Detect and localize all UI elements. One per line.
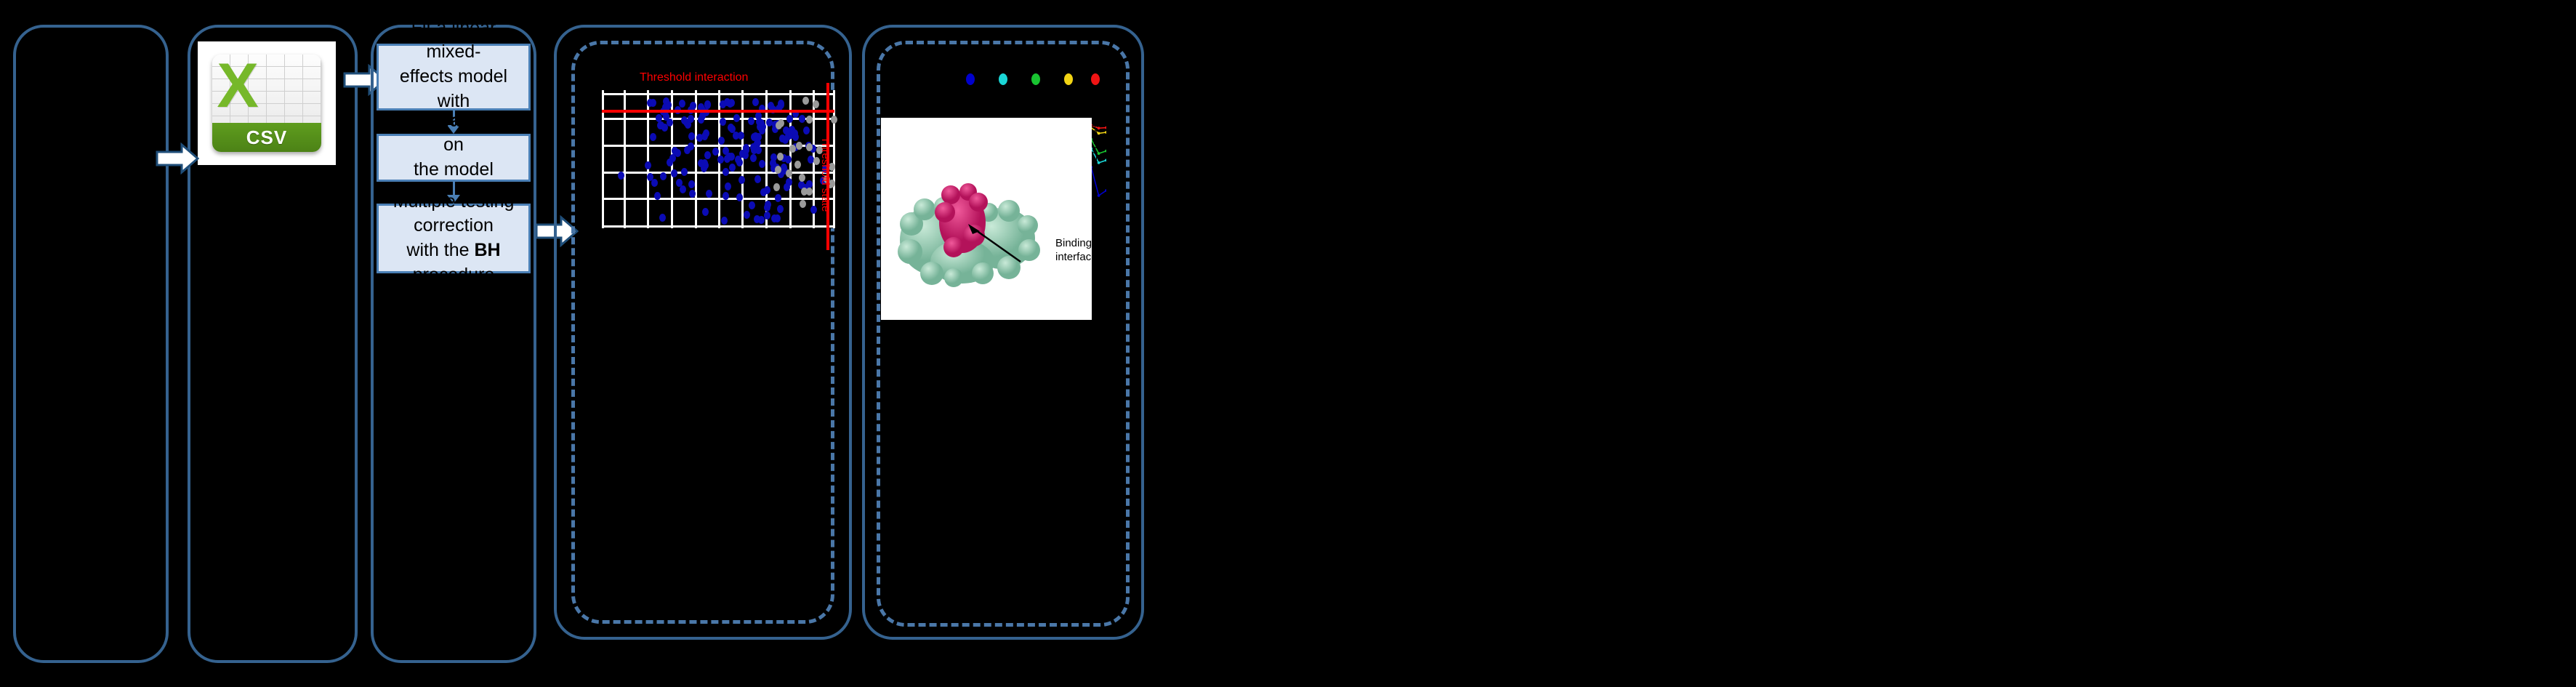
- scatter-point-significant: [689, 190, 696, 198]
- wald-keyword: Wald tests: [434, 111, 524, 131]
- scatter-point-nonsignificant: [799, 174, 805, 182]
- method-box-bh: Multiple testing correction with the BH …: [377, 204, 531, 273]
- method-box-wald: Apply Wald tests on the model parameters: [377, 134, 531, 182]
- csv-file-icon: X CSV: [198, 41, 336, 165]
- threshold-scatter-plot: [602, 90, 834, 228]
- scatter-point-significant: [658, 121, 664, 129]
- scatter-point-significant: [688, 180, 695, 188]
- peptide-series-marker: [1098, 194, 1100, 197]
- bh-keyword: BH: [475, 240, 501, 260]
- legend-dot: [1064, 73, 1073, 85]
- scatter-point-significant: [752, 98, 759, 106]
- csv-format-band: CSV: [212, 123, 321, 152]
- scatter-point-significant: [765, 201, 771, 209]
- binding-line-2: interface: [1055, 251, 1098, 265]
- flow-arrow-1: [156, 142, 199, 174]
- scatter-point-significant: [659, 214, 666, 222]
- scatter-point-nonsignificant: [773, 183, 780, 191]
- threshold-state-label: Threshold state: [819, 137, 832, 212]
- scatter-point-significant: [718, 137, 725, 145]
- grid-line-horizontal: [602, 172, 834, 174]
- wald-pre: Apply: [383, 111, 433, 131]
- grid-line-horizontal: [602, 198, 834, 200]
- bh-line-2: correction: [414, 215, 494, 236]
- scatter-point-significant: [680, 185, 686, 193]
- scatter-point-significant: [792, 133, 799, 141]
- scatter-point-significant: [720, 118, 726, 126]
- scatter-point-nonsignificant: [775, 166, 781, 174]
- scatter-point-significant: [702, 208, 709, 216]
- scatter-point-significant: [803, 126, 810, 134]
- scatter-point-significant: [775, 194, 781, 202]
- scatter-point-significant: [696, 134, 703, 142]
- binding-interface-annotation: Binding interface: [1055, 237, 1098, 265]
- scatter-point-nonsignificant: [776, 121, 782, 129]
- bh-line-3-pre: with the: [406, 240, 474, 260]
- threshold-interaction-line: [602, 110, 834, 113]
- scatter-point-significant: [759, 160, 765, 168]
- scatter-point-significant: [748, 117, 754, 125]
- scatter-point-significant: [684, 146, 691, 154]
- excel-x-icon: X: [217, 60, 259, 113]
- scatter-point-significant: [671, 169, 677, 177]
- scatter-point-nonsignificant: [806, 116, 813, 124]
- scatter-point-significant: [650, 133, 656, 141]
- scatter-point-significant: [733, 114, 740, 122]
- scatter-point-significant: [650, 99, 656, 107]
- scatter-point-significant: [784, 183, 790, 191]
- scatter-point-significant: [688, 115, 694, 123]
- legend-dot: [999, 73, 1007, 85]
- scatter-point-significant: [729, 164, 736, 172]
- scatter-point-significant: [704, 151, 711, 159]
- scatter-point-significant: [744, 211, 750, 219]
- scatter-point-significant: [721, 217, 728, 225]
- scatter-point-significant: [688, 132, 695, 140]
- scatter-point-nonsignificant: [789, 145, 796, 153]
- legend-dot: [966, 73, 975, 85]
- bh-line-3-post: procedure: [413, 265, 495, 285]
- scatter-point-significant: [726, 153, 733, 161]
- legend-dot: [1031, 73, 1040, 85]
- peptide-series-marker: [1105, 126, 1106, 129]
- scatter-point-significant: [651, 179, 658, 187]
- legend-dot: [1091, 73, 1100, 85]
- scatter-point-significant: [799, 115, 805, 123]
- scatter-point-significant: [723, 192, 729, 200]
- scatter-point-significant: [717, 156, 724, 164]
- scatter-point-significant: [704, 101, 711, 109]
- scatter-point-significant: [656, 114, 662, 122]
- scatter-point-significant: [810, 206, 817, 214]
- scatter-threshold-title: Threshold interaction: [640, 71, 748, 84]
- grid-line-horizontal: [602, 93, 834, 95]
- scatter-point-significant: [743, 146, 749, 154]
- method-box-reml: Fit a linear mixed- effects model with R…: [377, 44, 531, 111]
- scatter-point-nonsignificant: [806, 143, 813, 151]
- scatter-point-nonsignificant: [831, 116, 837, 124]
- scatter-point-significant: [754, 175, 761, 183]
- scatter-point-significant: [778, 101, 784, 109]
- scatter-point-nonsignificant: [794, 161, 801, 169]
- peptide-series-marker: [1098, 161, 1100, 164]
- scatter-point-significant: [645, 161, 651, 169]
- scatter-point-nonsignificant: [796, 142, 802, 150]
- csv-format-label: CSV: [246, 126, 287, 149]
- scatter-point-significant: [755, 146, 762, 154]
- scatter-point-nonsignificant: [800, 200, 806, 208]
- bh-line-1: Multiple testing: [393, 191, 515, 212]
- scatter-point-significant: [660, 172, 667, 180]
- binding-line-1: Binding: [1055, 237, 1098, 251]
- protein-surface-image: [893, 180, 1047, 289]
- scatter-point-significant: [752, 132, 759, 140]
- scatter-point-significant: [663, 113, 669, 121]
- scatter-point-nonsignificant: [786, 169, 792, 177]
- scatter-point-significant: [706, 190, 712, 198]
- reml-line-2: effects model with: [400, 66, 507, 111]
- scatter-point-significant: [786, 115, 793, 123]
- scatter-point-significant: [698, 159, 704, 167]
- scatter-point-nonsignificant: [813, 100, 819, 108]
- scatter-point-significant: [774, 214, 781, 222]
- scatter-point-significant: [777, 205, 784, 213]
- stage-panel-empty: [13, 25, 169, 663]
- scatter-point-significant: [764, 212, 770, 220]
- scatter-point-significant: [723, 168, 729, 176]
- grid-line-horizontal: [602, 225, 834, 228]
- scatter-point-significant: [675, 149, 681, 157]
- scatter-point-significant: [766, 118, 773, 126]
- reml-line-1: Fit a linear mixed-: [411, 17, 496, 63]
- scatter-point-significant: [667, 158, 673, 166]
- scatter-point-significant: [725, 182, 731, 190]
- wald-post: on: [443, 134, 464, 155]
- scatter-point-significant: [750, 154, 757, 162]
- scatter-point-significant: [758, 119, 765, 127]
- scatter-point-significant: [681, 168, 688, 176]
- scatter-point-nonsignificant: [802, 97, 809, 105]
- scatter-point-significant: [736, 193, 743, 201]
- scatter-point-significant: [760, 188, 767, 196]
- scatter-point-nonsignificant: [806, 188, 813, 196]
- scatter-point-significant: [782, 136, 789, 144]
- peptide-series-marker: [1105, 131, 1106, 134]
- scatter-point-significant: [749, 201, 755, 209]
- scatter-point-significant: [738, 176, 745, 184]
